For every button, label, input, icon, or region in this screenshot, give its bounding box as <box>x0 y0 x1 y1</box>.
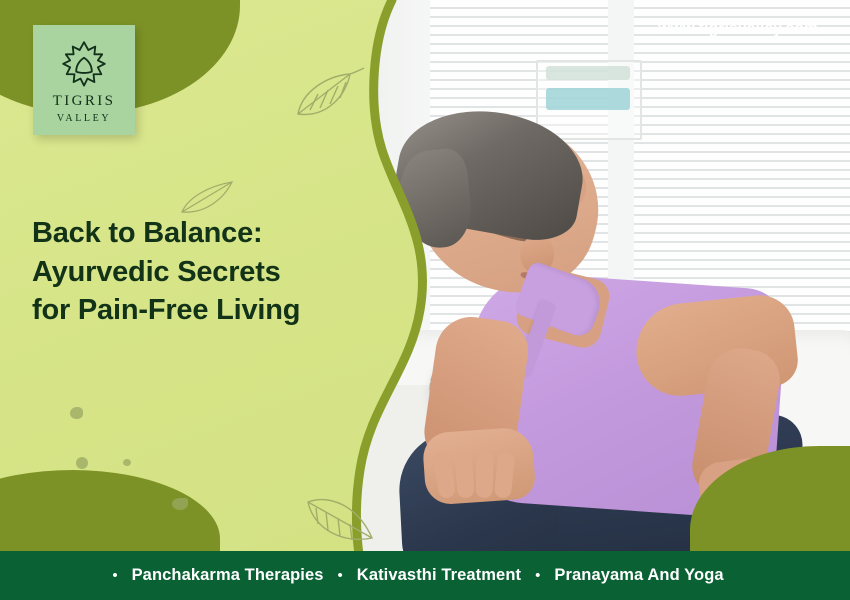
finger <box>454 451 474 498</box>
headline-line-1: Back to Balance: <box>32 214 300 253</box>
headline-line-3: for Pain-Free Living <box>32 291 300 330</box>
website-url[interactable]: www.tigrisvalley.com <box>658 20 818 38</box>
logo-wordmark: TIGRIS <box>53 93 116 110</box>
decor-dot <box>123 459 131 466</box>
headline-line-2: Ayurvedic Secrets <box>32 253 300 292</box>
decor-dot <box>70 407 83 419</box>
footer-bar: • Panchakarma Therapies • Kativasthi Tre… <box>0 551 850 600</box>
cabinet-shelf <box>546 66 630 80</box>
lotus-flower-icon <box>58 37 110 89</box>
finger <box>476 452 494 498</box>
teal-accent <box>546 88 630 110</box>
brand-logo[interactable]: TIGRIS VALLEY <box>33 25 135 135</box>
footer-item-panchakarma[interactable]: Panchakarma Therapies <box>118 566 338 585</box>
decor-dot <box>172 498 188 510</box>
page-title: Back to Balance: Ayurvedic Secrets for P… <box>32 214 300 330</box>
footer-item-kativasthi[interactable]: Kativasthi Treatment <box>343 566 535 585</box>
promo-banner: TIGRIS VALLEY www.tigrisvalley.com Back … <box>0 0 850 600</box>
hair-side <box>395 147 475 252</box>
footer-item-pranayama[interactable]: Pranayama And Yoga <box>540 566 737 585</box>
decor-dot <box>76 457 88 469</box>
leaf-icon <box>288 66 368 136</box>
logo-subtext: VALLEY <box>57 113 111 124</box>
